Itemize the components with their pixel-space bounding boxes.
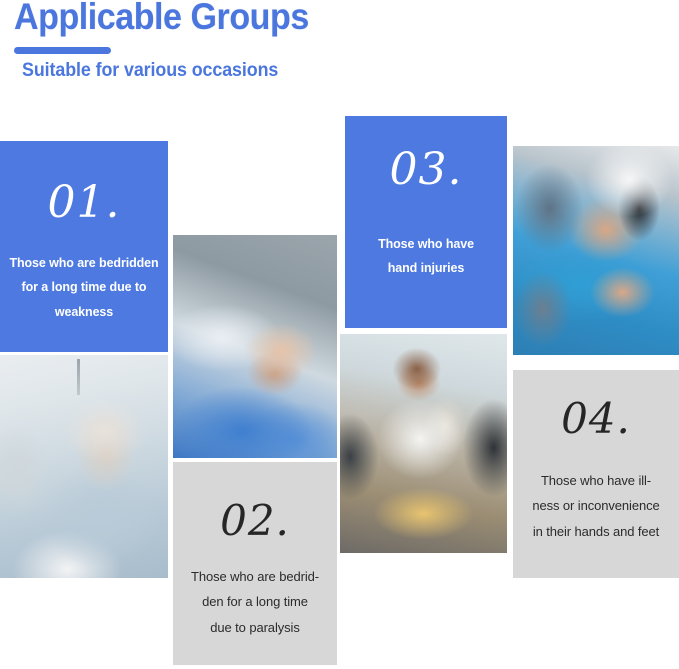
oxygen-tube-detail (77, 359, 80, 395)
card-02-number: 02. (220, 500, 290, 542)
page-header: Applicable Groups Suitable for various o… (0, 0, 679, 100)
card-03-line-2: hand injuries (378, 256, 474, 280)
page-title: Applicable Groups (14, 0, 309, 38)
card-04-text: Those who have ill- ness or inconvenienc… (526, 468, 665, 544)
card-02-line-1: Those who are bedrid- (191, 564, 319, 589)
card-03-line-1: Those who have (378, 232, 474, 256)
sleeping-patient-photo (173, 235, 337, 458)
card-04-number: 04. (561, 398, 631, 440)
card-02-line-3: due to paralysis (191, 615, 319, 640)
title-divider (14, 47, 111, 54)
card-01-line-3: weakness (9, 300, 158, 324)
card-04-line-1: Those who have ill- (532, 468, 659, 493)
card-03-text: Those who have hand injuries (372, 232, 480, 281)
card-03[interactable]: 03. Those who have hand injuries (345, 116, 507, 328)
elderly-patient-photo (0, 355, 168, 578)
card-02-text: Those who are bedrid- den for a long tim… (185, 564, 325, 640)
page-subtitle: Suitable for various occasions (22, 60, 278, 82)
card-01-line-2: for a long time due to (9, 275, 158, 299)
card-04[interactable]: 04. Those who have ill- ness or inconven… (513, 370, 679, 578)
card-03-number: 03. (390, 148, 463, 192)
arm-cast-photo (340, 334, 507, 553)
card-04-line-3: in their hands and feet (532, 519, 659, 544)
card-02[interactable]: 02. Those who are bedrid- den for a long… (173, 462, 337, 665)
card-01-line-1: Those who are bedridden (9, 251, 158, 275)
card-01-text: Those who are bedridden for a long time … (3, 251, 164, 324)
card-02-line-2: den for a long time (191, 589, 319, 614)
card-01[interactable]: 01. Those who are bedridden for a long t… (0, 141, 168, 352)
card-04-line-2: ness or inconvenience (532, 493, 659, 518)
card-01-number: 01. (48, 181, 121, 225)
leg-therapy-photo (513, 146, 679, 355)
